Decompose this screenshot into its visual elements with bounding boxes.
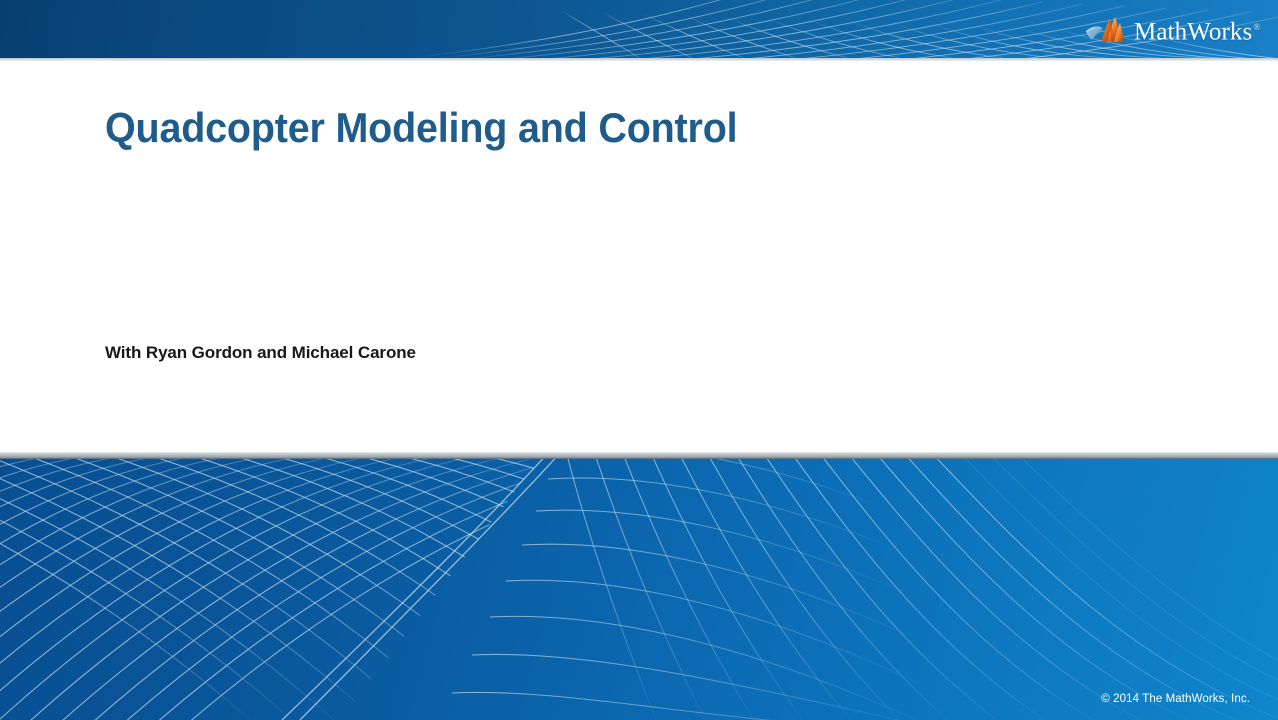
bottom-banner-wireframe-mesh — [0, 459, 1278, 720]
logo-text-label: MathWorks — [1134, 19, 1252, 46]
page-title: Quadcopter Modeling and Control — [105, 104, 737, 152]
membrane-icon — [1085, 15, 1127, 45]
presentation-slide: MathWorks® Quadcopter Modeling and Contr… — [0, 0, 1278, 720]
mathworks-logo: MathWorks® — [1085, 13, 1263, 47]
copyright-notice: © 2014 The MathWorks, Inc. — [1101, 693, 1250, 705]
content-divider — [0, 452, 1278, 459]
bottom-banner: © 2014 The MathWorks, Inc. — [0, 459, 1278, 720]
slide-subtitle: With Ryan Gordon and Michael Carone — [105, 343, 416, 363]
slide-content-area: Quadcopter Modeling and Control With Rya… — [0, 61, 1278, 452]
logo-wordmark: MathWorks® — [1134, 12, 1260, 47]
registered-trademark-icon: ® — [1253, 22, 1260, 32]
